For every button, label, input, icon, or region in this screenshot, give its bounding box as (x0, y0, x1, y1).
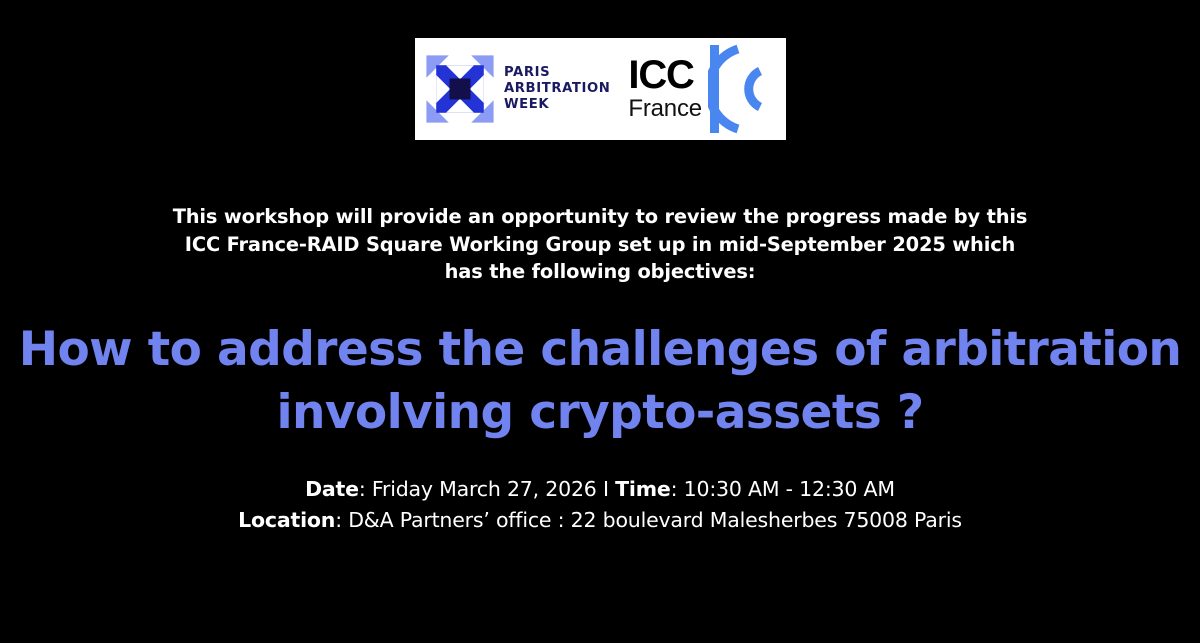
icc-france-wordmark: ICC France (628, 56, 702, 121)
event-location-line: Location: D&A Partners’ office : 22 boul… (0, 505, 1200, 536)
paris-arbitration-week-mark (425, 54, 495, 124)
time-label: Time (615, 477, 670, 501)
logo-band: PARIS ARBITRATION WEEK ICC France (415, 38, 786, 140)
icc-line-1: ICC (628, 56, 702, 94)
event-datetime-line: Date: Friday March 27, 2026 I Time: 10:3… (0, 474, 1200, 505)
icc-line-2: France (628, 96, 702, 121)
headline: How to address the challenges of arbitra… (0, 318, 1200, 445)
headline-line-2: involving crypto-assets ? (0, 381, 1200, 444)
date-label: Date (305, 477, 359, 501)
intro-line-2: ICC France-RAID Square Working Group set… (0, 231, 1200, 259)
icc-france-arcs-mark (708, 43, 770, 135)
paris-arbitration-week-wordmark: PARIS ARBITRATION WEEK (504, 65, 610, 113)
paw-line-2: ARBITRATION (504, 81, 610, 96)
intro-paragraph: This workshop will provide an opportunit… (0, 203, 1200, 286)
location-value: : D&A Partners’ office : 22 boulevard Ma… (335, 508, 962, 532)
date-value: : Friday March 27, 2026 I (359, 477, 615, 501)
event-details: Date: Friday March 27, 2026 I Time: 10:3… (0, 474, 1200, 536)
icc-france-logo: ICC France (628, 43, 770, 135)
headline-line-1: How to address the challenges of arbitra… (0, 318, 1200, 381)
paris-arbitration-week-logo: PARIS ARBITRATION WEEK (425, 54, 610, 124)
time-value: : 10:30 AM - 12:30 AM (671, 477, 895, 501)
intro-line-3: has the following objectives: (0, 258, 1200, 286)
paw-line-1: PARIS (504, 65, 550, 80)
location-label: Location (238, 508, 335, 532)
paw-line-3: WEEK (504, 97, 549, 112)
intro-line-1: This workshop will provide an opportunit… (0, 203, 1200, 231)
